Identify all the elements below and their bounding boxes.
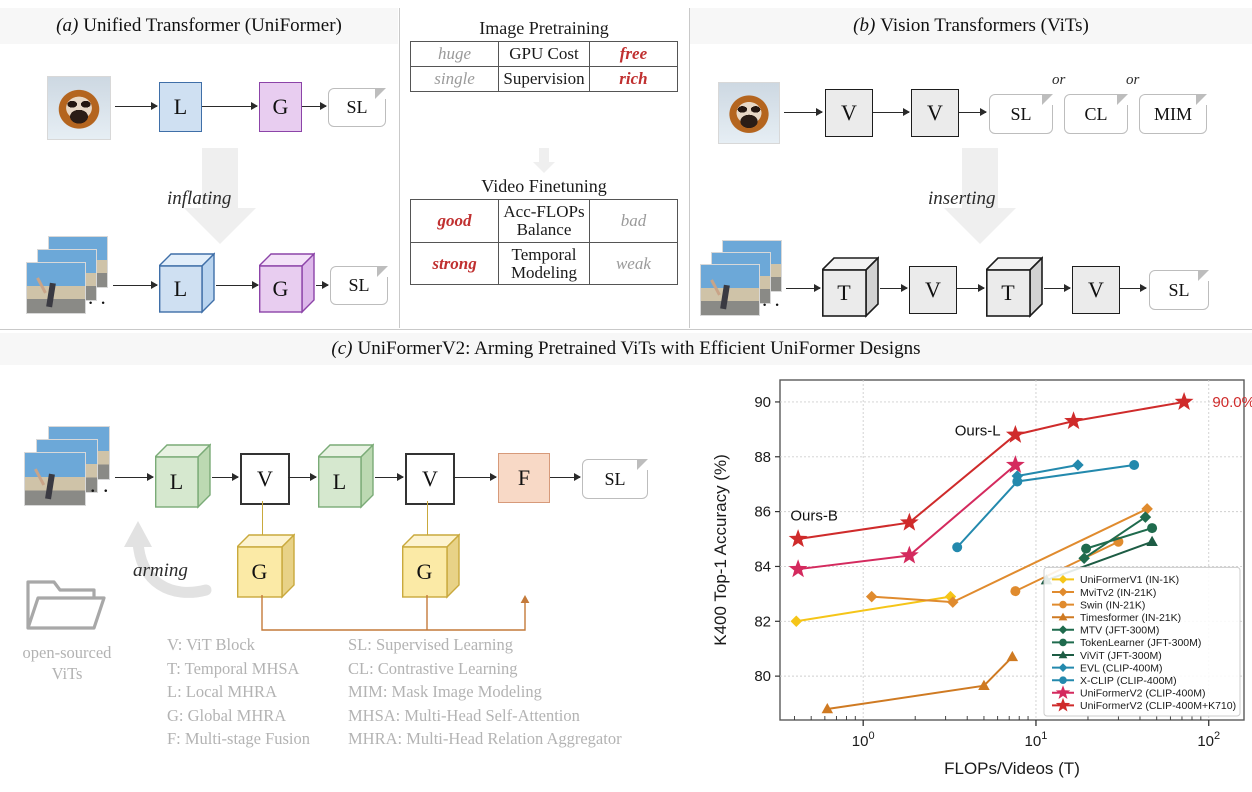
folder-label-line-1: open-sourced: [4, 642, 130, 663]
panel-b-video-thumbnail-1: [700, 264, 760, 316]
panel-c-video-thumbnail-1: [24, 452, 86, 506]
legend-label: UniFormerV1 (IN-1K): [1080, 574, 1179, 586]
legend-label: MTV (JFT-300M): [1080, 625, 1159, 637]
y-tick-label: 80: [754, 668, 771, 685]
panel-b-cube-T2: T: [986, 256, 1043, 318]
arrow-c-2: [212, 477, 238, 478]
arrow-a1-2: [202, 106, 257, 107]
x-axis-title: FLOPs/Videos (T): [944, 759, 1080, 778]
legend-label: TokenLearner (JFT-300M): [1080, 637, 1201, 649]
y-tick-label: 86: [754, 504, 771, 521]
panel-a-video-thumbnail-1: [26, 262, 86, 314]
panel-c-cube-G2: G: [402, 533, 460, 599]
arrow-b2-3: [957, 288, 984, 289]
panel-b-cube-T1: T: [822, 256, 879, 318]
glossary-item: MHSA: Multi-Head Self-Attention: [348, 704, 622, 728]
table-row: huge GPU Cost free: [411, 42, 678, 67]
legend-label: Timesformer (IN-21K): [1080, 612, 1181, 624]
arrow-b2-4: [1044, 288, 1070, 289]
ellipsis-dots-c: . .: [90, 472, 110, 498]
legend-label: EVL (CLIP-400M): [1080, 662, 1162, 674]
panel-b-block-V3: V: [909, 266, 957, 314]
panel-b-image-thumbnail: [718, 82, 780, 144]
glossary-item: V: ViT Block: [167, 633, 310, 657]
chart-annotation: Ours-B: [790, 508, 838, 525]
glossary-item: CL: Contrastive Learning: [348, 657, 622, 681]
folder-icon: [24, 572, 108, 634]
panel-a-transition-label: inflating: [167, 188, 231, 210]
divider-left: [399, 8, 400, 328]
arrow-c-V1-to-G1: [262, 501, 263, 537]
legend-label: X-CLIP (CLIP-400M): [1080, 675, 1177, 687]
panel-c-folder-label: open-sourced ViTs: [4, 642, 130, 684]
arrow-c-6: [550, 477, 580, 478]
legend-label: MviTv2 (IN-21K): [1080, 587, 1156, 599]
chart-legend: UniFormerV1 (IN-1K)MviTv2 (IN-21K)Swin (…: [1044, 567, 1240, 716]
arrow-a2-1: [113, 285, 157, 286]
divider-horizontal: [0, 329, 1252, 330]
legend-label: ViViT (JFT-300M): [1080, 650, 1162, 662]
y-tick-label: 82: [754, 613, 771, 630]
chart-annotation: 90.0%: [1212, 394, 1252, 411]
panel-a-cube-L: L: [159, 252, 215, 314]
panel-c-output-SL: SL: [582, 459, 648, 499]
panel-b-block-V1: V: [825, 89, 873, 137]
glossary-item: F: Multi-stage Fusion: [167, 727, 310, 751]
glossary-item: MHRA: Multi-Head Relation Aggregator: [348, 727, 622, 751]
legend-label: UniFormerV2 (CLIP-400M): [1080, 688, 1205, 700]
or-label-2: or: [1126, 72, 1139, 89]
arrow-b1-3: [959, 112, 986, 113]
arrow-b2-2: [880, 288, 907, 289]
panel-a-block-G: G: [259, 82, 302, 132]
glossary-column-1: V: ViT BlockT: Temporal MHSAL: Local MHR…: [167, 633, 310, 751]
glossary-item: G: Global MHRA: [167, 704, 310, 728]
glossary-item: MIM: Mask Image Modeling: [348, 680, 622, 704]
y-axis-title: K400 Top-1 Accuracy (%): [711, 454, 730, 646]
glossary-column-2: SL: Supervised LearningCL: Contrastive L…: [348, 633, 622, 751]
image-pretraining-title: Image Pretraining: [410, 18, 678, 41]
arrow-c-5: [453, 477, 496, 478]
panel-a-image-thumbnail: [47, 76, 111, 140]
panel-c-arming-label: arming: [133, 560, 188, 582]
chart-annotation: Ours-L: [955, 423, 1001, 440]
video-finetuning-title: Video Finetuning: [410, 176, 678, 199]
panel-b-transition-label: inserting: [928, 188, 996, 210]
panel-a-output-SL: SL: [328, 88, 386, 127]
arrow-a1-3: [302, 106, 326, 107]
panel-c-block-V1: V: [240, 453, 290, 505]
legend-label: Swin (IN-21K): [1080, 599, 1145, 611]
legend-label: UniFormerV2 (CLIP-400M+K710): [1080, 700, 1236, 712]
table-row: good Acc-FLOPs Balance bad: [411, 200, 678, 243]
y-tick-label: 90: [754, 394, 771, 411]
panel-a-block-L: L: [159, 82, 202, 132]
x-tick-label: 100: [852, 730, 875, 750]
folder-label-line-2: ViTs: [4, 663, 130, 684]
table-transition-arrow-icon: [532, 148, 556, 174]
y-tick-label: 88: [754, 449, 771, 466]
arrow-c-V2-to-G2: [427, 501, 428, 537]
arrow-b1-2: [873, 112, 909, 113]
accuracy-vs-flops-chart: 808284868890100101102FLOPs/Videos (T)K40…: [700, 368, 1252, 792]
arrow-a1-1: [115, 106, 157, 107]
y-tick-label: 84: [754, 558, 771, 575]
panel-c-title: UniFormerV2: Arming Pretrained ViTs with…: [358, 338, 921, 360]
panel-b-output-SL: SL: [989, 94, 1053, 134]
glossary-item: L: Local MHRA: [167, 680, 310, 704]
panel-b-prefix: (b): [853, 15, 875, 37]
panel-b-block-V2: V: [911, 89, 959, 137]
panel-c-block-F: F: [498, 453, 550, 503]
panel-b-block-V4: V: [1072, 266, 1120, 314]
ellipsis-dots-a: . .: [88, 285, 107, 310]
divider-right: [689, 8, 690, 328]
panel-a-title: Unified Transformer (UniFormer): [83, 15, 342, 37]
table-row: single Supervision rich: [411, 66, 678, 91]
panel-c-header: (c) UniFormerV2: Arming Pretrained ViTs …: [0, 333, 1252, 365]
arrow-b2-5: [1120, 288, 1146, 289]
table-row: strong Temporal Modeling weak: [411, 242, 678, 285]
x-tick-label: 101: [1025, 730, 1048, 750]
ellipsis-dots-b: . .: [762, 287, 781, 312]
panel-c-block-V2: V: [405, 453, 455, 505]
glossary-item: T: Temporal MHSA: [167, 657, 310, 681]
arrow-c-1: [115, 477, 153, 478]
or-label-1: or: [1052, 72, 1065, 89]
panel-a-header: (a) Unified Transformer (UniFormer): [0, 8, 398, 44]
panel-b-output-MIM: MIM: [1139, 94, 1207, 134]
arrow-c-3: [288, 477, 316, 478]
x-tick-label: 102: [1197, 730, 1220, 750]
panel-a-output2-SL: SL: [330, 266, 388, 305]
panel-c-prefix: (c): [331, 338, 352, 360]
panel-c-cube-G1: G: [237, 533, 295, 599]
panel-b-header: (b) Vision Transformers (ViTs): [690, 8, 1252, 44]
arrow-b1-1: [784, 112, 822, 113]
panel-c-cube-L2: L: [318, 443, 374, 509]
panel-b-title: Vision Transformers (ViTs): [880, 15, 1089, 37]
image-pretraining-table: Image Pretraining huge GPU Cost free sin…: [410, 18, 678, 92]
panel-a-cube-G: G: [259, 252, 315, 314]
arrow-a2-2: [216, 285, 258, 286]
panel-a-prefix: (a): [56, 15, 78, 37]
arming-arrow-icon: [110, 495, 215, 605]
arrow-a2-3: [316, 285, 328, 286]
panel-b-output2-SL: SL: [1149, 270, 1209, 310]
arrow-b2-1: [786, 288, 820, 289]
video-finetuning-table: Video Finetuning good Acc-FLOPs Balance …: [410, 176, 678, 285]
arrow-c-4: [375, 477, 403, 478]
glossary-item: SL: Supervised Learning: [348, 633, 622, 657]
panel-b-output-CL: CL: [1064, 94, 1128, 134]
